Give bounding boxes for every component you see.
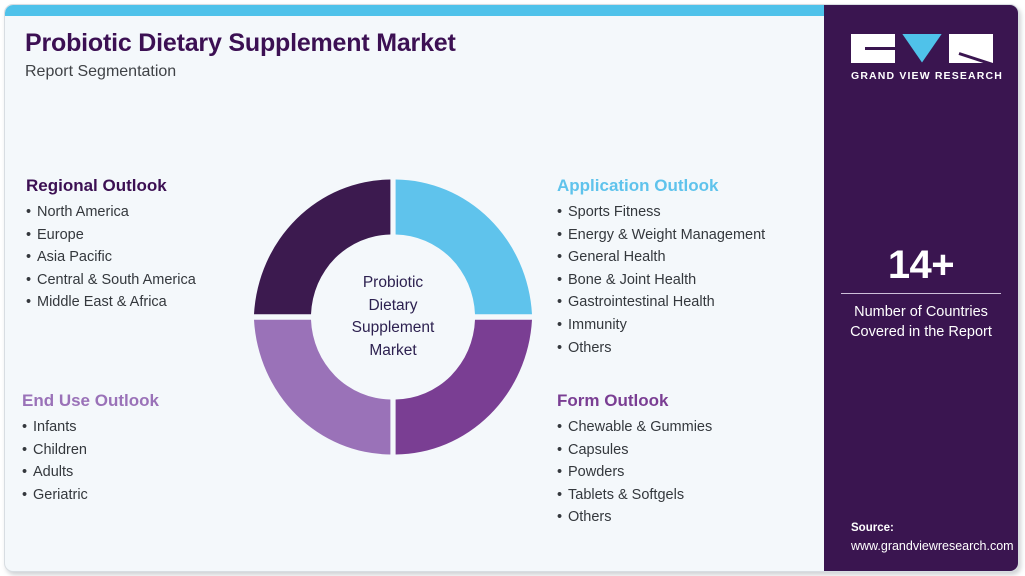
bullet-icon: • [557,269,568,292]
stat-value: 14+ [824,243,1018,287]
donut-segment-regional [254,180,390,315]
list-item-label: Immunity [568,317,627,333]
list-item-label: Capsules [568,442,628,458]
report-card: Probiotic Dietary Supplement Market Repo… [4,4,1019,572]
list-item: •Powders [557,461,712,484]
bullet-icon: • [26,269,37,292]
list-item: •Infants [22,416,159,439]
list-item: •Tablets & Softgels [557,484,712,507]
application-outlook-list: •Sports Fitness •Energy & Weight Managem… [557,201,765,359]
list-item-label: Others [568,509,612,525]
list-item-label: North America [37,204,129,220]
regional-outlook-heading: Regional Outlook [26,175,196,196]
logo-marks [851,33,993,63]
bullet-icon: • [557,416,568,439]
bullet-icon: • [557,314,568,337]
brand-sidebar: GRAND VIEW RESEARCH 14+ Number of Countr… [824,5,1018,571]
donut-segment-end-use [254,320,390,455]
source-url[interactable]: www.grandviewresearch.com [851,537,1019,555]
list-item-label: General Health [568,249,666,265]
form-outlook-heading: Form Outlook [557,390,712,411]
list-item-label: Bone & Joint Health [568,272,696,288]
bullet-icon: • [26,224,37,247]
list-item: •Capsules [557,439,712,462]
source-block: Source: www.grandviewresearch.com [851,520,1019,555]
list-item-label: Tablets & Softgels [568,487,684,503]
header: Probiotic Dietary Supplement Market Repo… [25,27,805,82]
list-item: •North America [26,201,196,224]
end-use-outlook-heading: End Use Outlook [22,390,159,411]
bullet-icon: • [22,484,33,507]
application-outlook-heading: Application Outlook [557,175,765,196]
list-item: •Sports Fitness [557,201,765,224]
bullet-icon: • [557,337,568,360]
list-item-label: Infants [33,419,77,435]
list-item: •Europe [26,224,196,247]
bullet-icon: • [26,291,37,314]
stat-caption-line2: Covered in the Report [824,322,1018,342]
list-item: •Children [22,439,159,462]
bullet-icon: • [557,201,568,224]
list-item-label: Powders [568,464,624,480]
bullet-icon: • [557,291,568,314]
donut-segment-application [396,180,532,315]
regional-outlook-list: •North America •Europe •Asia Pacific •Ce… [26,201,196,314]
list-item-label: Asia Pacific [37,249,112,265]
bullet-icon: • [557,506,568,529]
list-item: •Immunity [557,314,765,337]
logo-r-icon [949,34,993,63]
bullet-icon: • [22,461,33,484]
list-item: •Geriatric [22,484,159,507]
list-item: •General Health [557,246,765,269]
list-item-label: Adults [33,464,73,480]
application-outlook-block: Application Outlook •Sports Fitness •Ene… [557,175,765,359]
logo-v-triangle-icon [902,34,942,63]
list-item-label: Geriatric [33,487,88,503]
form-outlook-block: Form Outlook •Chewable & Gummies •Capsul… [557,390,712,529]
list-item-label: Central & South America [37,272,196,288]
list-item-label: Energy & Weight Management [568,227,765,243]
list-item: •Central & South America [26,269,196,292]
bullet-icon: • [26,201,37,224]
page-title: Probiotic Dietary Supplement Market [25,27,805,59]
source-label: Source: [851,520,1019,537]
stat-divider [841,293,1001,294]
logo-wordmark: GRAND VIEW RESEARCH [851,70,993,82]
countries-stat: 14+ Number of Countries Covered in the R… [824,243,1018,342]
logo-g-icon [851,34,895,63]
stat-caption-line1: Number of Countries [824,302,1018,322]
segmentation-donut-chart: Probiotic Dietary Supplement Market [253,173,533,461]
donut-svg [253,173,533,461]
list-item: •Middle East & Africa [26,291,196,314]
list-item-label: Sports Fitness [568,204,661,220]
list-item: •Gastrointestinal Health [557,291,765,314]
end-use-outlook-block: End Use Outlook •Infants •Children •Adul… [22,390,159,506]
list-item: •Others [557,337,765,360]
form-outlook-list: •Chewable & Gummies •Capsules •Powders •… [557,416,712,529]
top-accent-bar [5,5,824,16]
bullet-icon: • [557,246,568,269]
bullet-icon: • [22,416,33,439]
list-item-label: Chewable & Gummies [568,419,712,435]
list-item-label: Others [568,340,612,356]
list-item: •Others [557,506,712,529]
bullet-icon: • [557,224,568,247]
regional-outlook-block: Regional Outlook •North America •Europe … [26,175,196,314]
list-item-label: Middle East & Africa [37,294,167,310]
bullet-icon: • [557,461,568,484]
list-item: •Asia Pacific [26,246,196,269]
end-use-outlook-list: •Infants •Children •Adults •Geriatric [22,416,159,506]
list-item: •Energy & Weight Management [557,224,765,247]
bullet-icon: • [557,484,568,507]
list-item: •Bone & Joint Health [557,269,765,292]
grand-view-research-logo: GRAND VIEW RESEARCH [851,33,993,82]
page-subtitle: Report Segmentation [25,62,805,82]
list-item-label: Europe [37,227,84,243]
list-item: •Adults [22,461,159,484]
bullet-icon: • [22,439,33,462]
bullet-icon: • [26,246,37,269]
list-item-label: Children [33,442,87,458]
bullet-icon: • [557,439,568,462]
list-item: •Chewable & Gummies [557,416,712,439]
list-item-label: Gastrointestinal Health [568,294,715,310]
donut-segment-form [396,320,532,455]
